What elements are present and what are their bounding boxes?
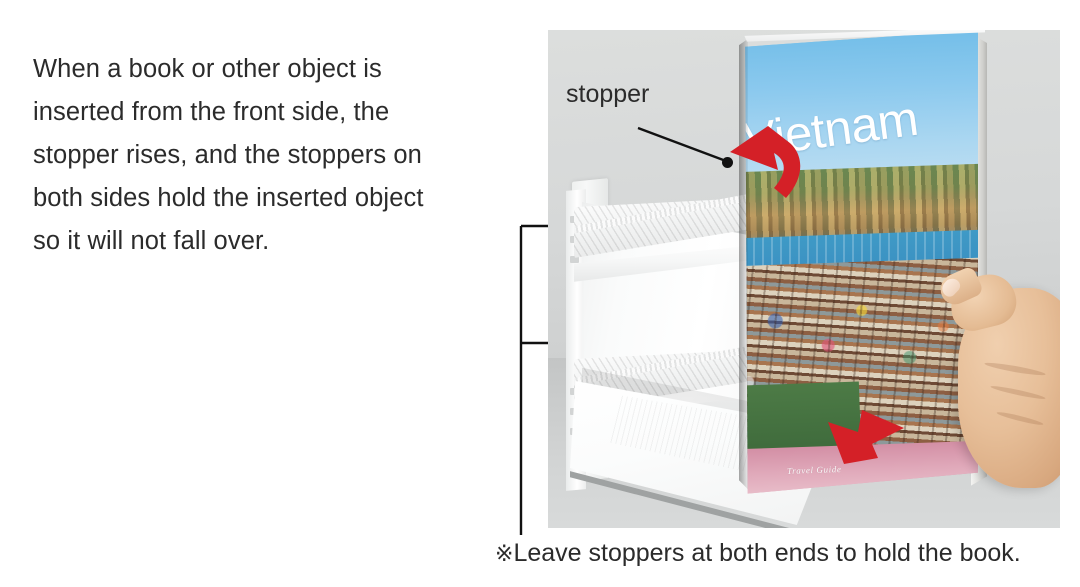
description-line-4: both sides hold the inserted object xyxy=(33,177,503,220)
description-line-3: stopper rises, and the stoppers on xyxy=(33,134,503,177)
callout-dot-stopper xyxy=(722,157,733,168)
footnote-caption: ※Leave stoppers at both ends to hold the… xyxy=(495,536,1021,572)
page-root: When a book or other object is inserted … xyxy=(0,0,1080,587)
product-photo: Travel Guide Vietnam stopper xyxy=(548,30,1060,528)
description-line-2: inserted from the front side, the xyxy=(33,91,503,134)
description-text: When a book or other object is inserted … xyxy=(33,48,503,263)
description-line-5: so it will not fall over. xyxy=(33,220,503,263)
reference-mark-icon: ※ xyxy=(495,542,513,567)
footnote-caption-text: Leave stoppers at both ends to hold the … xyxy=(513,539,1020,567)
stopper-label-leader-line xyxy=(548,30,1060,528)
description-line-1: When a book or other object is xyxy=(33,48,503,91)
